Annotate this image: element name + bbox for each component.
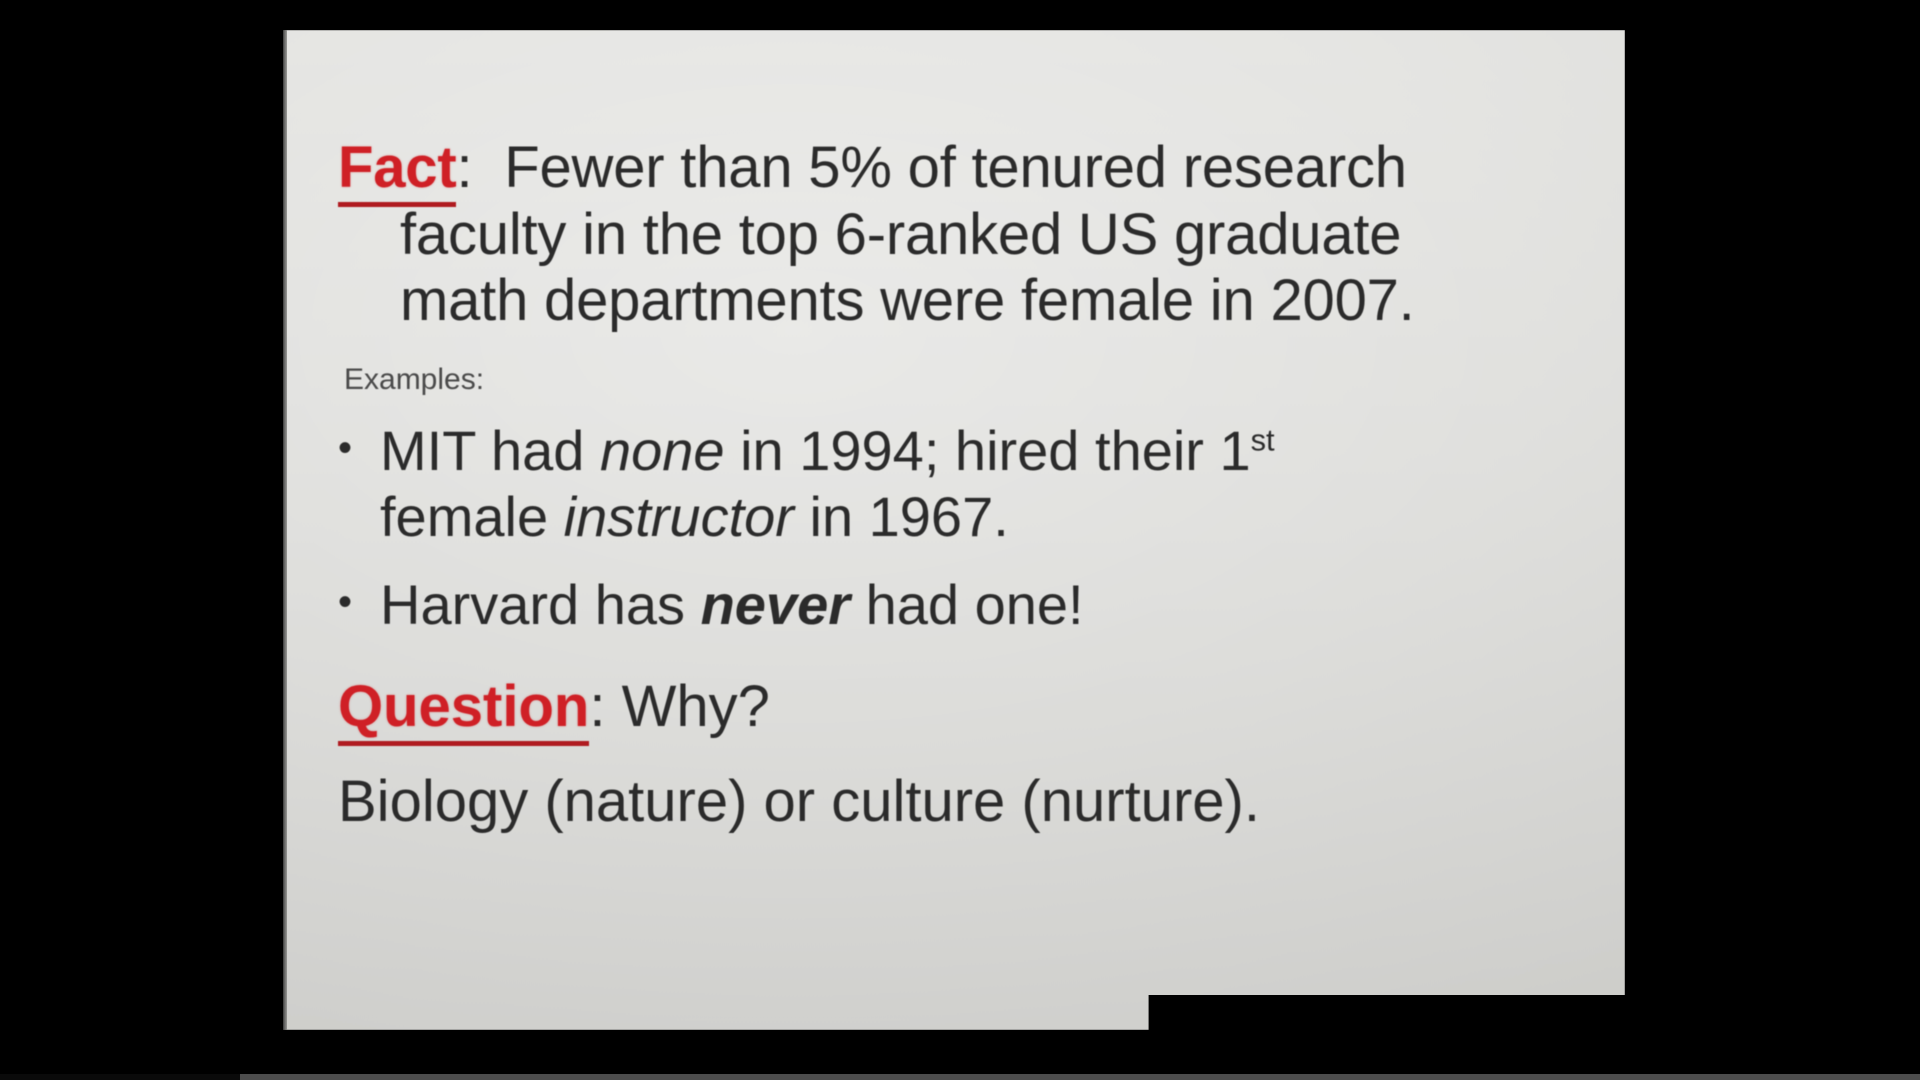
question-lead-label: Question [338, 674, 589, 746]
question-line: Question: Why? [338, 674, 1595, 741]
fact-text-line-3: math departments were female in 2007. [400, 268, 1415, 333]
bullet-2-part-2: had one! [850, 573, 1084, 636]
fact-lead-colon: : [456, 135, 472, 200]
bullet-1-superscript: st [1251, 422, 1275, 457]
fact-text-line-1: Fewer than 5% of tenured research [504, 135, 1407, 200]
fact-line-3: math departments were female in 2007. [338, 268, 1595, 335]
fact-line-1: Fact: Fewer than 5% of tenured research [338, 135, 1595, 202]
bullet-1-line-2: female instructor in 1967. [380, 484, 1595, 550]
frame-bottom-strip [240, 1074, 1920, 1080]
bullet-1-line2-part-2: in 1967. [794, 485, 1009, 548]
bullet-marker-icon: • [338, 418, 380, 478]
bullet-1-part-2: in 1994; hired their 1 [725, 419, 1251, 482]
fact-text-line-2: faculty in the top 6-ranked US graduate [400, 202, 1401, 267]
slide-content: Fact: Fewer than 5% of tenured research … [283, 30, 1625, 1030]
list-item: • MIT had none in 1994; hired their 1stf… [338, 418, 1595, 550]
bullet-2-text: Harvard has never had one! [380, 572, 1595, 638]
fact-paragraph: Fact: Fewer than 5% of tenured research … [338, 135, 1595, 335]
bullet-1-emphasis-instructor: instructor [564, 485, 794, 548]
question-lead-colon: : [589, 674, 605, 739]
bullet-2-emphasis-never: never [701, 573, 850, 636]
question-text: Why? [622, 674, 770, 739]
list-item: • Harvard has never had one! [338, 572, 1595, 638]
projector-frame: Fact: Fewer than 5% of tenured research … [0, 0, 1920, 1080]
fact-lead-label: Fact [338, 135, 456, 207]
bullet-1-part-1: MIT had [380, 419, 600, 482]
fact-line-2: faculty in the top 6-ranked US graduate [338, 202, 1595, 269]
bullet-1-line2-part-1: female [380, 485, 564, 548]
bullet-2-part-1: Harvard has [380, 573, 701, 636]
closing-line: Biology (nature) or culture (nurture). [338, 769, 1595, 836]
bullet-marker-icon: • [338, 572, 380, 632]
frame-bottom-left [0, 1074, 240, 1080]
examples-label: Examples: [344, 363, 1595, 396]
bullet-1-emphasis-none: none [600, 419, 725, 482]
bullet-1-text: MIT had none in 1994; hired their 1stfem… [380, 418, 1595, 550]
